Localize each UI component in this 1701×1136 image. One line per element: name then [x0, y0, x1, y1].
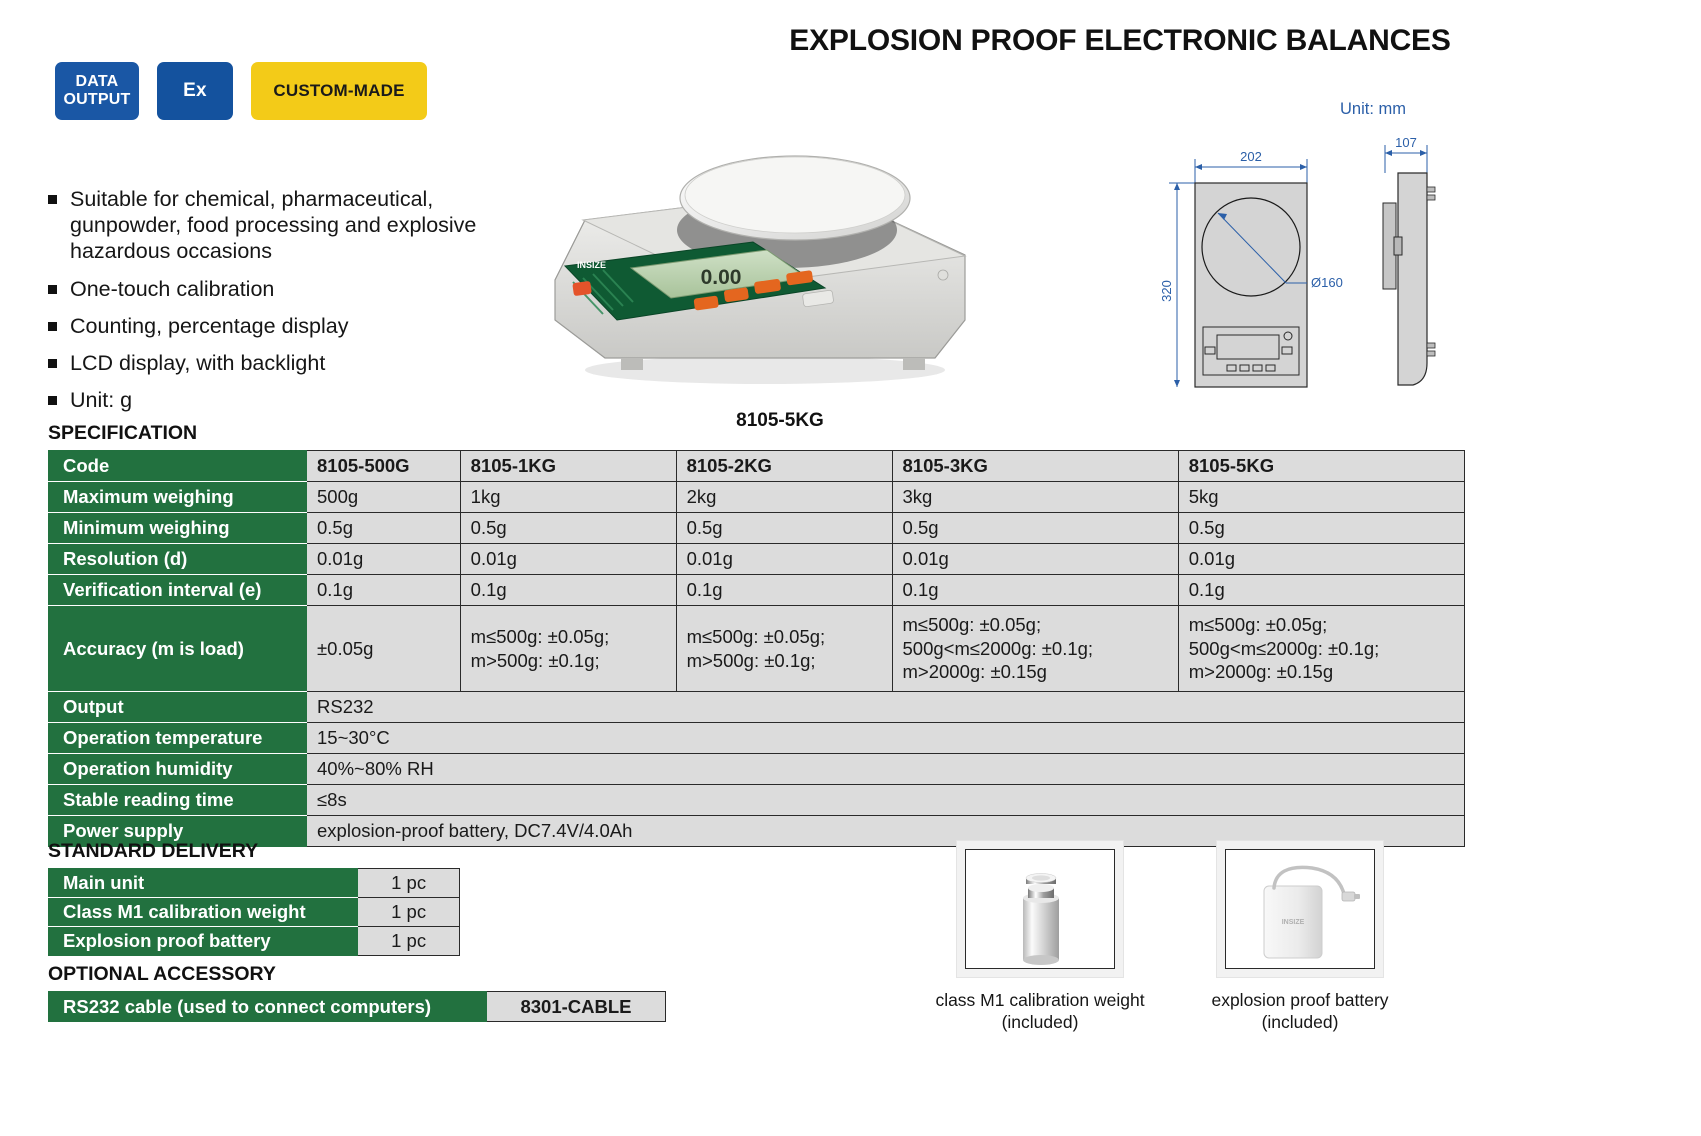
cell-value: ±0.05g: [307, 606, 461, 692]
cell-value: 3kg: [892, 482, 1178, 513]
accessory-caption: class M1 calibration weight (included): [930, 990, 1150, 1034]
cell-value: 0.01g: [460, 544, 676, 575]
accessory-caption-line2: (included): [1190, 1012, 1410, 1034]
cell-value: 8105-2KG: [676, 451, 892, 482]
cell-value: 0.1g: [676, 575, 892, 606]
list-item: Counting, percentage display: [48, 313, 518, 339]
datasheet-page: DATAOUTPUT Ex CUSTOM-MADE Suitable for c…: [0, 0, 1701, 1136]
svg-text:0.00: 0.00: [701, 266, 742, 289]
cell-value: 2kg: [676, 482, 892, 513]
cell-value: 8105-1KG: [460, 451, 676, 482]
feature-text: One-touch calibration: [70, 276, 274, 302]
table-row: Stable reading time ≤8s: [49, 785, 1465, 816]
dim-plate-diameter: Ø160: [1311, 275, 1343, 290]
square-bullet-icon: [48, 285, 57, 294]
square-bullet-icon: [48, 396, 57, 405]
accessory-calibration-weight: class M1 calibration weight (included): [930, 840, 1150, 1034]
badge-ex-label: Ex: [183, 80, 207, 101]
page-title: EXPLOSION PROOF ELECTRONIC BALANCES: [770, 24, 1470, 58]
row-label: Explosion proof battery: [49, 927, 358, 956]
specification-table: Code 8105-500G 8105-1KG 8105-2KG 8105-3K…: [48, 450, 1465, 847]
svg-text:INSIZE: INSIZE: [1282, 919, 1305, 926]
cell-value: 0.1g: [1178, 575, 1464, 606]
cell-value: 0.5g: [460, 513, 676, 544]
badge-ex: Ex: [157, 62, 233, 120]
cell-value: 0.5g: [676, 513, 892, 544]
cell-value: 8105-5KG: [1178, 451, 1464, 482]
cell-value: 0.01g: [676, 544, 892, 575]
cell-value: RS232: [307, 692, 1465, 723]
list-item: Suitable for chemical, pharmaceutical, g…: [48, 186, 518, 265]
feature-text: LCD display, with backlight: [70, 350, 325, 376]
cell-value: 0.1g: [460, 575, 676, 606]
cell-value: 0.01g: [307, 544, 461, 575]
badge-data-output-label: DATAOUTPUT: [64, 73, 131, 109]
row-label: Accuracy (m is load): [49, 606, 307, 692]
cell-value: 0.1g: [892, 575, 1178, 606]
table-row: Operation humidity 40%~80% RH: [49, 754, 1465, 785]
square-bullet-icon: [48, 322, 57, 331]
table-row: Output RS232: [49, 692, 1465, 723]
svg-text:INSIZE: INSIZE: [577, 260, 606, 270]
row-label: Operation temperature: [49, 723, 307, 754]
cell-value: m≤500g: ±0.05g; 500g<m≤2000g: ±0.1g; m>2…: [892, 606, 1178, 692]
calibration-weight-image: [965, 849, 1115, 969]
table-row: Operation temperature 15~30°C: [49, 723, 1465, 754]
cell-value: m≤500g: ±0.05g; 500g<m≤2000g: ±0.1g; m>2…: [1178, 606, 1464, 692]
row-label: Resolution (d): [49, 544, 307, 575]
table-row: Code 8105-500G 8105-1KG 8105-2KG 8105-3K…: [49, 451, 1465, 482]
cell-value: 8105-500G: [307, 451, 461, 482]
row-label: Minimum weighing: [49, 513, 307, 544]
dim-front-width: 202: [1240, 149, 1262, 164]
badge-data-output: DATAOUTPUT: [55, 62, 139, 120]
row-label: Code: [49, 451, 307, 482]
cell-value: 5kg: [1178, 482, 1464, 513]
cell-value: 500g: [307, 482, 461, 513]
optional-accessory-heading: OPTIONAL ACCESSORY: [48, 963, 276, 986]
cell-value: 0.01g: [892, 544, 1178, 575]
row-label: Maximum weighing: [49, 482, 307, 513]
list-item: Unit: g: [48, 387, 518, 413]
row-label: Class M1 calibration weight: [49, 898, 358, 927]
cell-value: 1kg: [460, 482, 676, 513]
standard-delivery-table: Main unit 1 pc Class M1 calibration weig…: [48, 868, 460, 956]
cell-value: 15~30°C: [307, 723, 1465, 754]
dim-side-width: 107: [1395, 135, 1417, 150]
accessory-caption: explosion proof battery (included): [1190, 990, 1410, 1034]
row-label: Stable reading time: [49, 785, 307, 816]
row-label: Output: [49, 692, 307, 723]
table-row: RS232 cable (used to connect computers) …: [49, 992, 666, 1022]
row-label: Main unit: [49, 869, 358, 898]
cell-value: 0.1g: [307, 575, 461, 606]
cell-code: 8301-CABLE: [487, 992, 666, 1022]
cell-value: ≤8s: [307, 785, 1465, 816]
table-row: Main unit 1 pc: [49, 869, 460, 898]
table-row: Verification interval (e) 0.1g 0.1g 0.1g…: [49, 575, 1465, 606]
specification-heading: SPECIFICATION: [48, 422, 197, 445]
list-item: LCD display, with backlight: [48, 350, 518, 376]
feature-text: Counting, percentage display: [70, 313, 349, 339]
cell-qty: 1 pc: [358, 927, 460, 956]
cell-value: m≤500g: ±0.05g; m>500g: ±0.1g;: [676, 606, 892, 692]
row-label: Verification interval (e): [49, 575, 307, 606]
badge-row: DATAOUTPUT Ex CUSTOM-MADE: [55, 62, 427, 120]
badge-custom-made-label: CUSTOM-MADE: [273, 81, 404, 100]
row-label: RS232 cable (used to connect computers): [49, 992, 487, 1022]
table-row: Minimum weighing 0.5g 0.5g 0.5g 0.5g 0.5…: [49, 513, 1465, 544]
table-row: Explosion proof battery 1 pc: [49, 927, 460, 956]
dimension-drawing: 202 320 Ø160 107: [1155, 95, 1485, 395]
square-bullet-icon: [48, 359, 57, 368]
cell-value: 0.5g: [892, 513, 1178, 544]
standard-delivery-heading: STANDARD DELIVERY: [48, 840, 258, 863]
table-row: Accuracy (m is load) ±0.05g m≤500g: ±0.0…: [49, 606, 1465, 692]
cell-value: 8105-3KG: [892, 451, 1178, 482]
feature-list: Suitable for chemical, pharmaceutical, g…: [48, 186, 518, 425]
row-label: Operation humidity: [49, 754, 307, 785]
cell-qty: 1 pc: [358, 869, 460, 898]
table-row: Resolution (d) 0.01g 0.01g 0.01g 0.01g 0…: [49, 544, 1465, 575]
accessory-caption-line1: explosion proof battery: [1190, 990, 1410, 1012]
list-item: One-touch calibration: [48, 276, 518, 302]
cell-value: 40%~80% RH: [307, 754, 1465, 785]
feature-text: Unit: g: [70, 387, 132, 413]
cell-qty: 1 pc: [358, 898, 460, 927]
square-bullet-icon: [48, 195, 57, 204]
product-photo: INSIZE 0.00 g: [525, 70, 1045, 400]
dim-front-height: 320: [1159, 280, 1174, 302]
badge-custom-made: CUSTOM-MADE: [251, 62, 427, 120]
accessory-explosion-proof-battery: INSIZE explosion proof battery (included…: [1190, 840, 1410, 1034]
optional-accessory-table: RS232 cable (used to connect computers) …: [48, 991, 666, 1022]
table-row: Maximum weighing 500g 1kg 2kg 3kg 5kg: [49, 482, 1465, 513]
accessory-frame: [956, 840, 1124, 978]
cell-value: 0.5g: [1178, 513, 1464, 544]
product-model-label: 8105-5KG: [600, 410, 960, 432]
feature-text: Suitable for chemical, pharmaceutical, g…: [70, 186, 518, 265]
table-row: Class M1 calibration weight 1 pc: [49, 898, 460, 927]
cell-value: 0.01g: [1178, 544, 1464, 575]
cell-value: 0.5g: [307, 513, 461, 544]
accessory-frame: INSIZE: [1216, 840, 1384, 978]
battery-image: INSIZE: [1225, 849, 1375, 969]
accessory-caption-line2: (included): [930, 1012, 1150, 1034]
cell-value: m≤500g: ±0.05g; m>500g: ±0.1g;: [460, 606, 676, 692]
accessory-caption-line1: class M1 calibration weight: [930, 990, 1150, 1012]
